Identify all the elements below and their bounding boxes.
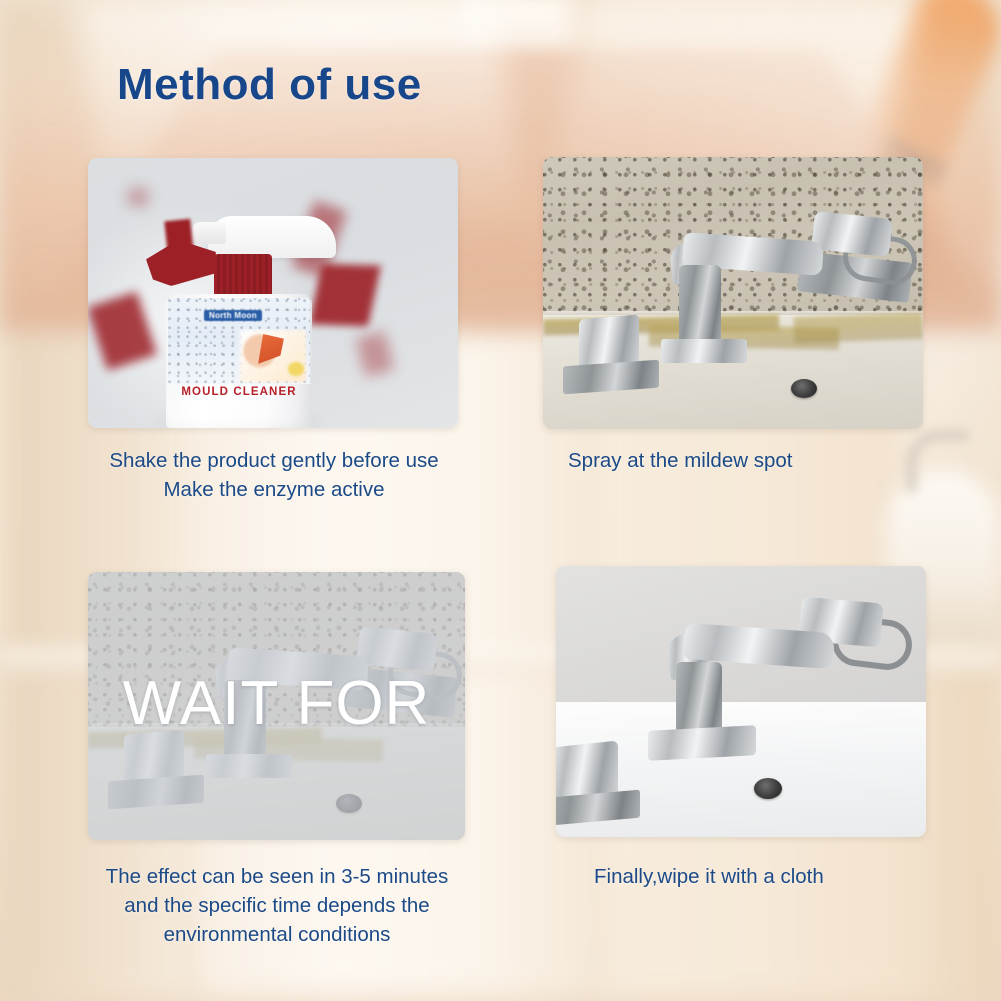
spray-nozzle (192, 222, 226, 244)
mildew-streak (793, 313, 923, 343)
step-1-image: North Moon MOULD CLEANER (88, 158, 458, 428)
step-4-caption: Finally,wipe it with a cloth (594, 862, 954, 891)
wait-for-text: WAIT FOR (88, 668, 465, 739)
overflow-drain (791, 379, 817, 398)
spray-trigger-top (208, 216, 336, 258)
infographic-page: Method of use North Moon MOULD CLEANER (0, 0, 1001, 1001)
step-4-photo (556, 566, 926, 837)
step-2-image (543, 157, 923, 429)
faucet-base-plate (648, 725, 756, 761)
bottle-collar (214, 254, 272, 298)
label-accent-dot (288, 362, 304, 376)
page-title: Method of use (117, 60, 422, 110)
faucet-lever (811, 211, 893, 257)
step-3-image: WAIT FOR (88, 572, 465, 840)
step-2-photo (543, 157, 923, 429)
product-brand-name: North Moon (204, 310, 262, 321)
faucet-base-plate (661, 339, 747, 363)
step-1-caption: Shake the product gently before use Make… (72, 446, 476, 504)
motion-blur-fragment (309, 264, 381, 327)
background-tap (906, 430, 968, 492)
step-3-photo: WAIT FOR (88, 572, 465, 840)
step-4-image (556, 566, 926, 837)
overflow-drain (754, 778, 782, 799)
product-name: MOULD CLEANER (168, 386, 310, 398)
step-3-caption: The effect can be seen in 3-5 minutes an… (60, 862, 494, 949)
step-1-photo-background: North Moon MOULD CLEANER (88, 158, 458, 428)
motion-blur-fragment (356, 331, 395, 377)
step-2-caption: Spray at the mildew spot (568, 446, 908, 475)
